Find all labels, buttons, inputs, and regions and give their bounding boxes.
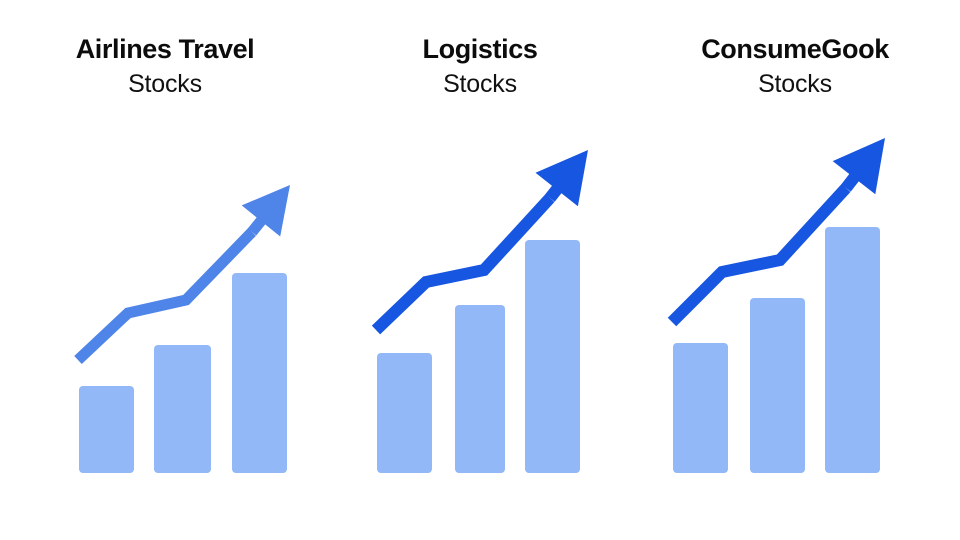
bar-1[interactable]: 120 (377, 353, 432, 473)
bar-2[interactable]: 175 (750, 298, 805, 473)
panel-title: Airlines Travel (0, 36, 330, 63)
chart-canvas: Airlines Travel Stocks Logistics Stocks … (0, 0, 960, 540)
panel-title: Logistics (330, 36, 630, 63)
panel-heading-airlines-travel: Airlines Travel Stocks (0, 36, 330, 97)
bar-2[interactable]: 168 (455, 305, 505, 473)
panel-subtitle: Stocks (630, 72, 960, 97)
bar-1[interactable]: 130 (673, 343, 728, 473)
bar-1[interactable]: 87 (79, 386, 134, 473)
bar-2[interactable]: 128 (154, 345, 211, 473)
bar-3[interactable]: 200 (232, 273, 287, 473)
panel-title: ConsumeGook (630, 36, 960, 63)
panel-heading-consumegook: ConsumeGook Stocks (630, 36, 960, 97)
panel-subtitle: Stocks (0, 72, 330, 97)
panel-heading-logistics: Logistics Stocks (330, 36, 630, 97)
panel-subtitle: Stocks (330, 72, 630, 97)
bar-3[interactable]: 246 (825, 227, 880, 473)
bar-3[interactable]: 233 (525, 240, 580, 473)
